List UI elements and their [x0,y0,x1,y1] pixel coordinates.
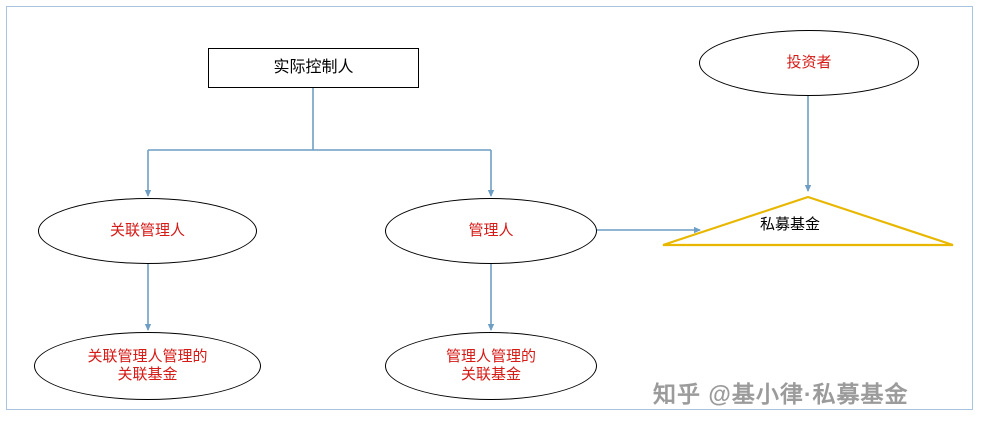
diagram-canvas: 实际控制人 投资者 关联管理人 管理人 关联管理人管理的 关联基金 管理人管理的… [0,0,981,431]
node-controller-label: 实际控制人 [273,58,353,78]
node-affiliated-manager-label: 关联管理人 [110,222,185,240]
node-manager-label: 管理人 [468,222,513,240]
node-investor[interactable]: 投资者 [699,30,919,96]
node-controller[interactable]: 实际控制人 [208,48,419,88]
node-manager[interactable]: 管理人 [385,198,597,264]
node-affiliated-manager-fund-line1: 关联管理人管理的 [87,348,207,366]
node-manager-fund[interactable]: 管理人管理的 关联基金 [385,332,597,400]
node-affiliated-manager[interactable]: 关联管理人 [38,198,257,264]
node-manager-fund-line1: 管理人管理的 [446,348,536,366]
node-investor-label: 投资者 [786,54,831,72]
node-affiliated-manager-fund-line2: 关联基金 [87,366,207,384]
node-affiliated-manager-fund[interactable]: 关联管理人管理的 关联基金 [34,332,261,400]
node-private-fund-label: 私募基金 [760,213,820,234]
watermark: 知乎 @基小律·私募基金 [653,375,908,409]
node-manager-fund-line2: 关联基金 [446,366,536,384]
